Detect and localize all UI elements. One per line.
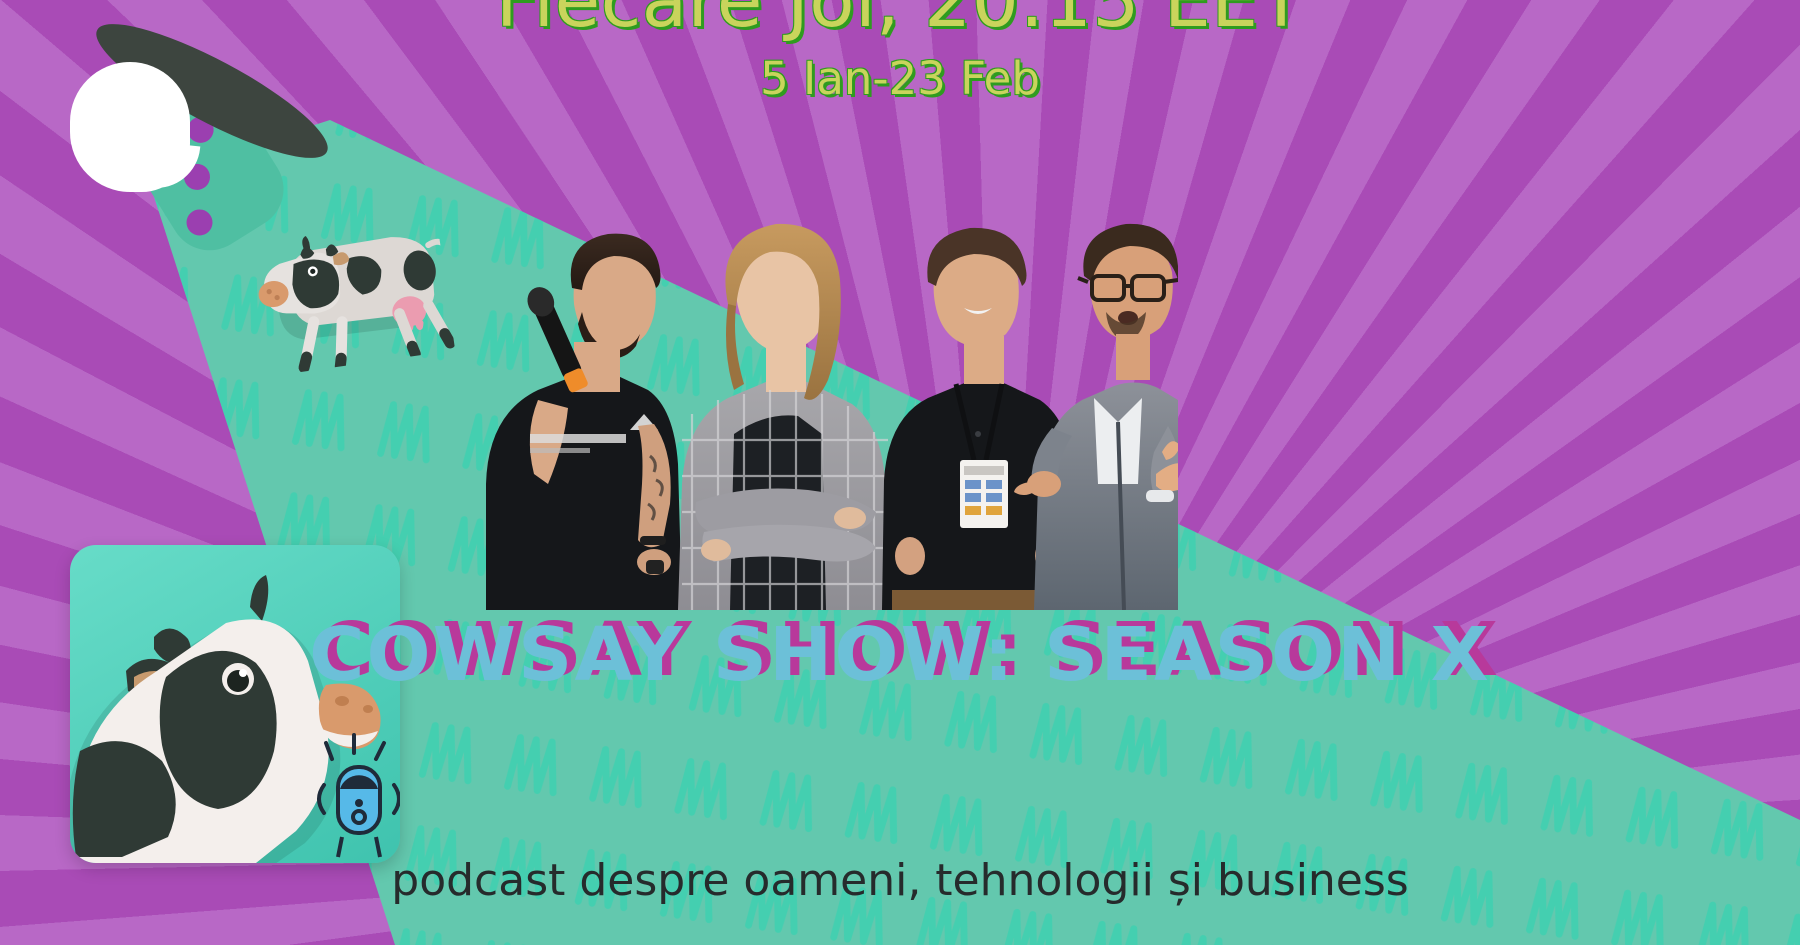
podcast-logo-card[interactable] bbox=[70, 545, 400, 863]
date-range: 5 Ian-23 Feb bbox=[0, 52, 1800, 105]
schedule-headline: Fiecare Joi, 20:15 EET bbox=[0, 0, 1800, 44]
host-two bbox=[678, 224, 888, 610]
show-title: COWSAY SHOW: SEASON X bbox=[0, 612, 1800, 698]
ufo-dot bbox=[182, 205, 218, 241]
hosts-photo bbox=[478, 184, 1178, 610]
tagline: podcast despre oameni, tehnologii și bus… bbox=[0, 855, 1800, 906]
podcast-poster: Fiecare Joi, 20:15 EET 5 Ian-23 Feb COWS… bbox=[0, 0, 1800, 945]
host-one bbox=[486, 234, 682, 610]
